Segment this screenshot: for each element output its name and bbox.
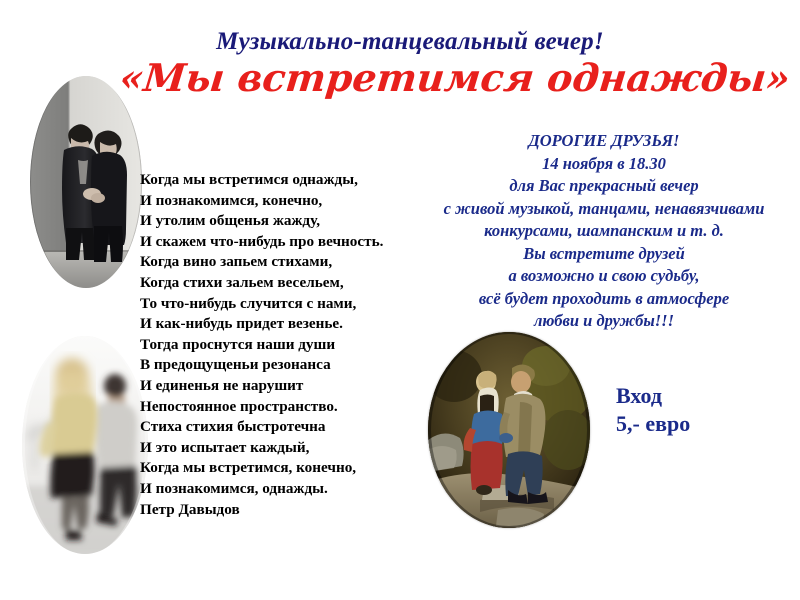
poem-line: Петр Давыдов [140, 500, 440, 521]
entry-price: 5,- евро [616, 410, 690, 438]
invitation-line: Вы встретите друзей [408, 243, 800, 266]
photo-couple-standing [30, 76, 142, 288]
invitation-line: всё будет проходить в атмосфере [408, 288, 800, 311]
invitation-line: 14 ноября в 18.30 [408, 153, 800, 176]
invitation-line: любви и дружбы!!! [408, 310, 800, 333]
poem-line: И скажем что-нибудь про вечность. [140, 232, 440, 253]
poem-line: Непостоянное пространство. [140, 397, 440, 418]
poem-line: Когда мы встретимся, конечно, [140, 458, 440, 479]
poem-block: Когда мы встретимся однажды,И познакомим… [140, 170, 440, 520]
poem-line: Когда вино запьем стихами, [140, 252, 440, 273]
poem-line: В предощущеньи резонанса [140, 355, 440, 376]
invitation-line: а возможно и свою судьбу, [408, 265, 800, 288]
couple-standing-illustration [30, 76, 142, 288]
poem-line: И познакомимся, однажды. [140, 479, 440, 500]
invitation-line: для Вас прекрасный вечер [408, 175, 800, 198]
poem-line: Когда стихи зальем весельем, [140, 273, 440, 294]
poem-line: И познакомимся, конечно, [140, 191, 440, 212]
entry-label: Вход [616, 382, 690, 410]
photo-couple-dancing [22, 336, 148, 554]
painting-illustration [428, 332, 590, 528]
entry-price-block: Вход 5,- евро [616, 382, 690, 438]
poem-line: И как-нибудь придет везенье. [140, 314, 440, 335]
poem-line: Тогда проснутся наши души [140, 335, 440, 356]
poem-line: И это испытает каждый, [140, 438, 440, 459]
poem-line: И утолим общенья жажду, [140, 211, 440, 232]
poem-line: И единенья не нарушит [140, 376, 440, 397]
poster-title-main: Музыкально-танцевальный вечер! [130, 28, 690, 56]
poster-title-script: «Мы встретимся однажды» [118, 58, 702, 98]
invitation-line: ДОРОГИЕ ДРУЗЬЯ! [408, 130, 800, 153]
poem-line: Когда мы встретимся однажды, [140, 170, 440, 191]
poster-canvas: Музыкально-танцевальный вечер! «Мы встре… [0, 0, 800, 600]
couple-dancing-illustration [22, 336, 148, 554]
invitation-line: конкурсами, шампанским и т. д. [408, 220, 800, 243]
photo-painting-oval [428, 332, 590, 528]
poem-line: То что-нибудь случится с нами, [140, 294, 440, 315]
invitation-block: ДОРОГИЕ ДРУЗЬЯ!14 ноября в 18.30для Вас … [408, 130, 800, 333]
poem-line: Стиха стихия быстротечна [140, 417, 440, 438]
invitation-line: с живой музыкой, танцами, ненавязчивами [408, 198, 800, 221]
